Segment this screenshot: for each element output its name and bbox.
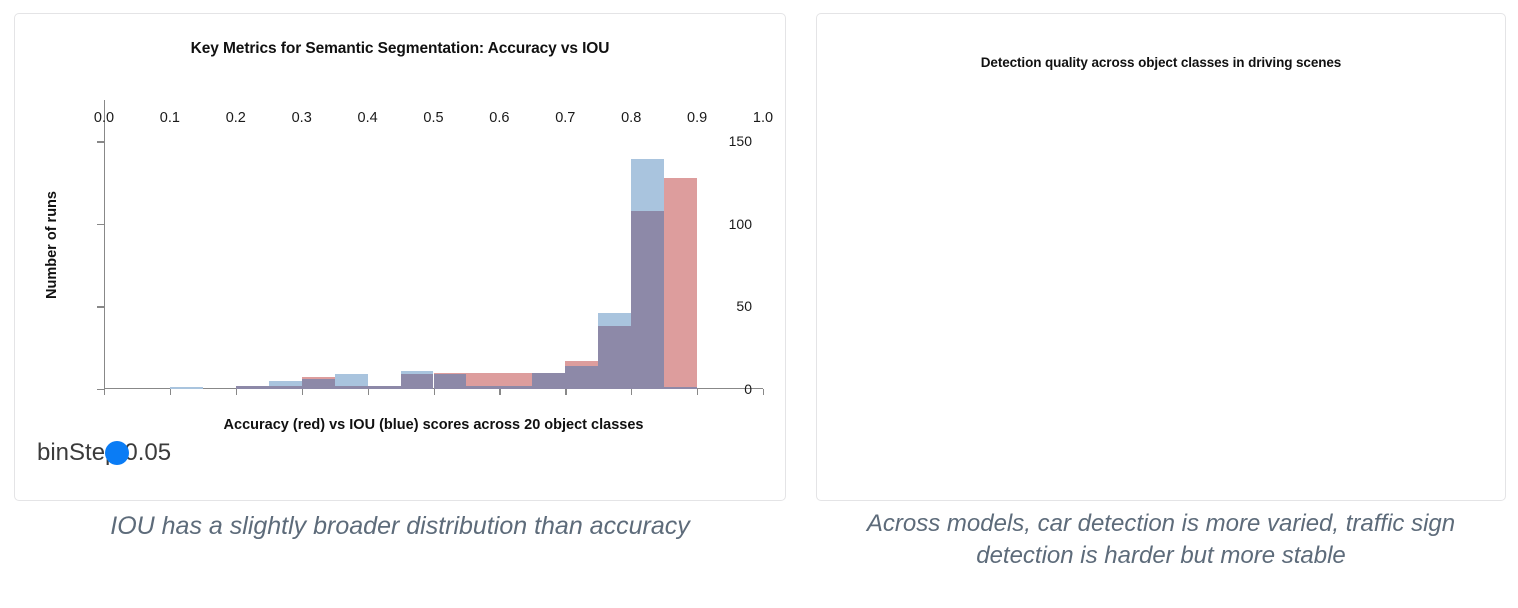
binstep-slider-row-left[interactable]: binStep 0.05 (37, 439, 171, 467)
dashboard-root: Key Metrics for Semantic Segmentation: A… (0, 0, 1518, 608)
y-tick-label: 50 (736, 298, 752, 314)
x-tick-mark (631, 389, 632, 395)
y-tick-mark (97, 389, 104, 390)
histogram-bar-overlap (269, 386, 302, 389)
chart-title-right: Detection quality across object classes … (817, 55, 1505, 70)
x-tick-label: 1.0 (753, 110, 773, 126)
x-tick-mark (565, 389, 566, 395)
y-tick-label: 100 (729, 216, 752, 232)
y-tick-mark (97, 224, 104, 225)
histogram-bar-overlap (631, 211, 664, 389)
y-tick-mark (97, 306, 104, 307)
x-tick-mark (434, 389, 435, 395)
x-tick-label: 0.4 (358, 110, 378, 126)
binstep-slider-thumb-left[interactable] (105, 441, 129, 465)
y-axis-label-left: Number of runs (44, 191, 60, 299)
histogram-bar-overlap (598, 326, 631, 389)
caption-left: IOU has a slightly broader distribution … (14, 510, 786, 543)
x-tick-mark (302, 389, 303, 395)
x-tick-mark (104, 389, 105, 395)
x-tick-label: 0.0 (94, 110, 114, 126)
histogram-bar-overlap (236, 386, 269, 389)
x-tick-label: 0.7 (555, 110, 575, 126)
histogram-bar-overlap (532, 373, 565, 390)
x-tick-mark (170, 389, 171, 395)
histogram-bar-overlap (335, 386, 368, 389)
plot-area-left: Number of runs Accuracy (red) vs IOU (bl… (104, 100, 763, 389)
chart-panel-right: Detection quality across object classes … (816, 13, 1506, 501)
binstep-slider-value-left: 0.05 (124, 439, 171, 467)
histogram-bar-overlap (401, 374, 434, 389)
histogram-bar-overlap (302, 379, 335, 389)
histogram-bar-overlap (565, 366, 598, 389)
x-tick-label: 0.5 (423, 110, 443, 126)
y-tick-label: 0 (744, 381, 752, 397)
x-tick-label: 0.3 (292, 110, 312, 126)
x-axis-label-left: Accuracy (red) vs IOU (blue) scores acro… (104, 417, 763, 433)
binstep-slider-track-wrap-left[interactable] (116, 444, 118, 462)
chart-panel-left: Key Metrics for Semantic Segmentation: A… (14, 13, 786, 501)
histogram-bar-overlap (434, 374, 467, 389)
histogram-bar (170, 387, 203, 389)
histogram-bar-overlap (664, 387, 697, 389)
histogram-bar (664, 178, 697, 389)
histogram-bar-overlap (499, 386, 532, 389)
x-tick-mark (368, 389, 369, 395)
x-tick-mark (697, 389, 698, 395)
histogram-bar-overlap (466, 386, 499, 389)
y-tick-mark (97, 141, 104, 142)
x-tick-label: 0.1 (160, 110, 180, 126)
x-tick-mark (499, 389, 500, 395)
y-axis-line-left (104, 100, 105, 389)
x-tick-mark (763, 389, 764, 395)
histogram-bar-overlap (368, 386, 401, 389)
x-tick-mark (236, 389, 237, 395)
x-tick-label: 0.9 (687, 110, 707, 126)
x-tick-label: 0.8 (621, 110, 641, 126)
chart-title-left: Key Metrics for Semantic Segmentation: A… (15, 40, 785, 58)
x-tick-label: 0.2 (226, 110, 246, 126)
caption-right: Across models, car detection is more var… (816, 508, 1506, 571)
y-tick-label: 150 (729, 133, 752, 149)
x-tick-label: 0.6 (489, 110, 509, 126)
